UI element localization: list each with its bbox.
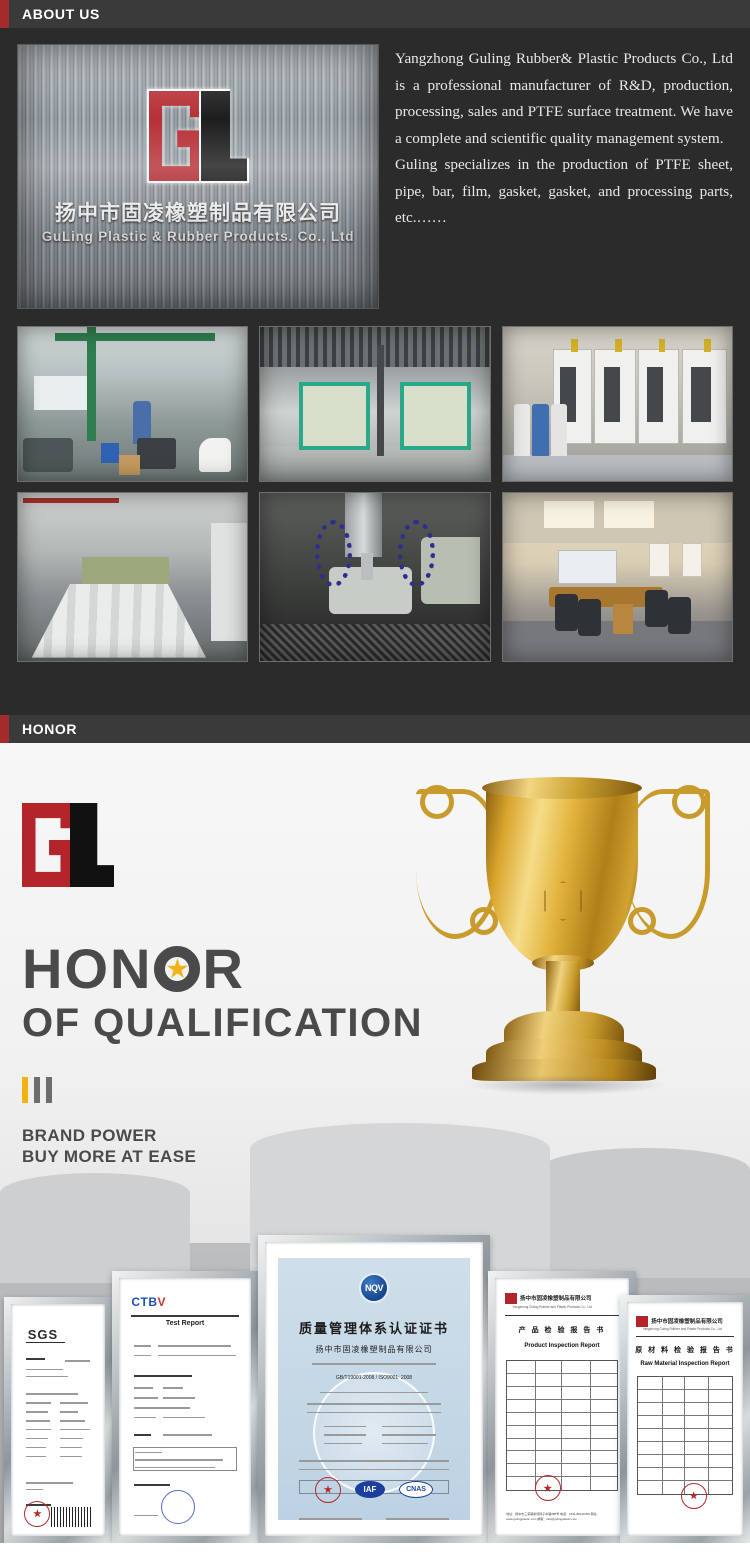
nqv-company-cn: 扬中市固凌橡塑制品有限公司 xyxy=(270,1344,478,1355)
company-signboard-image: 扬中市固凌橡塑制品有限公司 GuLing Plastic & Rubber Pr… xyxy=(17,44,379,309)
accreditation-logos: IAF CNAS xyxy=(270,1477,478,1503)
about-us-section-header: ABOUT US xyxy=(0,0,750,28)
report-title-cn: 原 材 料 检 验 报 告 书 xyxy=(632,1345,738,1355)
accent-bars-icon xyxy=(22,1077,52,1103)
logo-l-mark-icon xyxy=(70,803,114,887)
photo-cnc-milling-closeup[interactable] xyxy=(259,492,490,662)
section-accent-bar xyxy=(0,0,9,28)
ctbv-logo-text: CTBV xyxy=(131,1295,166,1309)
honor-headline-part-1: HON xyxy=(22,941,152,997)
certificate-raw-material-inspection-report[interactable]: 扬中市固凌橡塑制品有限公司 Yangzhong Guling Rubber an… xyxy=(620,1295,750,1543)
section-accent-bar xyxy=(0,715,9,743)
logo-l-mark-icon xyxy=(199,89,249,183)
star-in-o-icon xyxy=(154,946,200,992)
report-title-en: Raw Material Inspection Report xyxy=(632,1361,738,1367)
signboard-company-name-en: GuLing Plastic & Rubber Products. Co., L… xyxy=(18,229,378,244)
honor-tagline: BRAND POWER BUY MORE AT EASE xyxy=(22,1125,196,1167)
photo-conference-room[interactable] xyxy=(502,492,733,662)
company-seal-icon xyxy=(681,1483,707,1509)
certificate-product-inspection-report[interactable]: 扬中市固凌橡塑制品有限公司 Yangzhong Guling Rubber an… xyxy=(488,1271,636,1543)
report-title-cn: 产 品 检 验 报 告 书 xyxy=(500,1325,624,1335)
about-description: Yangzhong Guling Rubber& Plastic Product… xyxy=(395,44,733,309)
honor-section: HON R OF QUALIFICATION BRAND POWER BUY M… xyxy=(0,743,750,1543)
inspection-seal-icon xyxy=(161,1490,195,1524)
about-us-title: ABOUT US xyxy=(22,6,100,22)
honor-brand-logo xyxy=(22,803,114,887)
signboard-company-name-cn: 扬中市固凌橡塑制品有限公司 xyxy=(18,197,378,227)
report-company-cn: 扬中市固凌橡塑制品有限公司 xyxy=(651,1317,723,1325)
cqc-seal-icon xyxy=(315,1477,341,1503)
photo-sheet-warehouse[interactable] xyxy=(17,492,248,662)
sgs-logo-text: SGS xyxy=(28,1327,58,1342)
company-logo-icon xyxy=(636,1316,648,1327)
inspection-table xyxy=(506,1360,618,1491)
honor-title: HONOR xyxy=(22,721,77,737)
about-top-row: 扬中市固凌橡塑制品有限公司 GuLing Plastic & Rubber Pr… xyxy=(17,44,733,309)
iaf-logo: IAF xyxy=(355,1481,385,1498)
certificate-ctbv-test-report[interactable]: CTBV Test Report xyxy=(112,1271,258,1543)
company-logo-icon xyxy=(505,1293,517,1304)
signboard-logo xyxy=(147,89,249,183)
logo-g-mark-icon xyxy=(22,803,74,887)
honor-section-header: HONOR xyxy=(0,715,750,743)
photo-cnc-machining-line[interactable] xyxy=(502,326,733,482)
page-root: ABOUT US 扬中市固凌橡塑制品有限公司 GuLing Plastic & … xyxy=(0,0,750,1557)
ctbv-report-title: Test Report xyxy=(124,1320,246,1327)
photo-sintering-ovens[interactable] xyxy=(259,326,490,482)
report-company-en: Yangzhong Guling Rubber and Plastic Prod… xyxy=(643,1327,722,1331)
about-us-section: 扬中市固凌橡塑制品有限公司 GuLing Plastic & Rubber Pr… xyxy=(0,28,750,715)
photo-mixing-workshop[interactable] xyxy=(17,326,248,482)
nqv-issuer-text: NQV xyxy=(365,1283,383,1293)
tagline-line-2: BUY MORE AT EASE xyxy=(22,1146,196,1167)
honor-subtitle: OF QUALIFICATION xyxy=(22,1001,423,1046)
nqv-globe-icon: NQV xyxy=(359,1273,389,1303)
report-company-cn: 扬中市固凌橡塑制品有限公司 xyxy=(520,1294,592,1302)
factory-photo-grid xyxy=(17,326,733,662)
report-title-en: Product Inspection Report xyxy=(500,1343,624,1349)
logo-g-mark-icon xyxy=(147,89,205,183)
honor-headline-part-2: R xyxy=(202,941,244,997)
trophy-icon xyxy=(398,763,728,1163)
honor-headline: HON R xyxy=(22,941,245,997)
about-paragraph-2: Guling specializes in the production of … xyxy=(395,152,733,232)
certificate-sgs[interactable]: SGS xyxy=(4,1297,112,1543)
inspection-table xyxy=(637,1376,732,1495)
report-company-en: Yangzhong Guling Rubber and Plastic Prod… xyxy=(512,1305,591,1309)
certificate-quality-management-system[interactable]: NQV 质量管理体系认证证书 扬中市固凌橡塑制品有限公司 GB/T19001-2… xyxy=(258,1235,490,1543)
cnas-logo: CNAS xyxy=(399,1481,433,1498)
company-seal-icon xyxy=(24,1501,50,1527)
nqv-standard: GB/T19001-2008 / ISO9001: 2008 xyxy=(270,1375,478,1381)
company-seal-icon xyxy=(535,1475,561,1501)
certificate-gallery: SGS xyxy=(0,1223,750,1543)
about-paragraph-1: Yangzhong Guling Rubber& Plastic Product… xyxy=(395,46,733,152)
nqv-title-cn: 质量管理体系认证证书 xyxy=(270,1318,478,1337)
report-footer: 地址：扬中市三茅镇新坝扬子中路888号 电话：0511-88136399 网址：… xyxy=(506,1512,624,1521)
tagline-line-1: BRAND POWER xyxy=(22,1125,196,1146)
